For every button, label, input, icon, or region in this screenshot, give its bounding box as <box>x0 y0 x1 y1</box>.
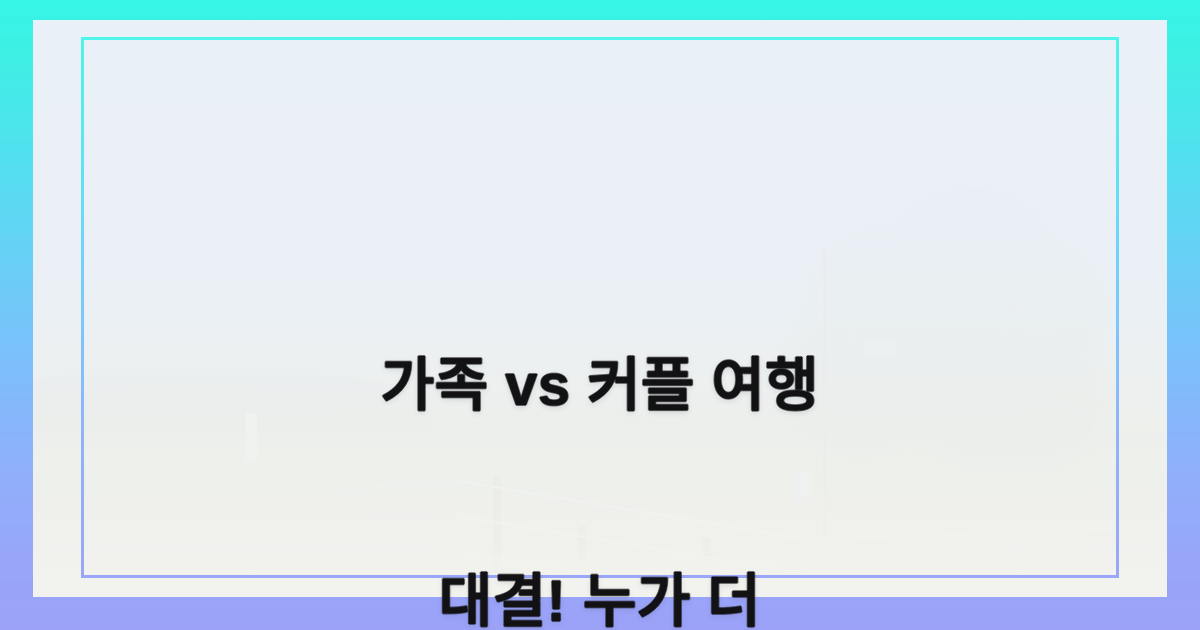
title-line-2: 대결! 누가 더 <box>0 566 1200 630</box>
title-line-1: 가족 vs 커플 여행 <box>0 350 1200 422</box>
thumbnail-card: 가족 vs 커플 여행 대결! 누가 더 신날까? <box>0 0 1200 630</box>
page-title: 가족 vs 커플 여행 대결! 누가 더 신날까? <box>0 206 1200 630</box>
